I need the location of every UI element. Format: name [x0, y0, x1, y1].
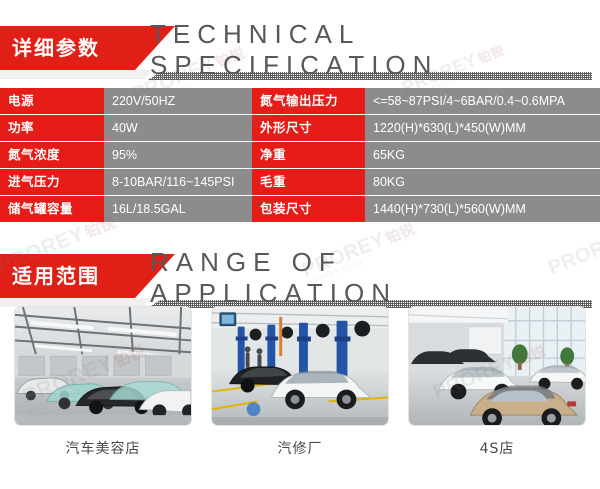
gallery-caption: 汽修厂: [278, 438, 323, 458]
application-gallery: 汽车美容店: [0, 306, 600, 466]
spec-label: 净重: [252, 142, 365, 168]
spec-label: 电源: [0, 88, 104, 114]
section-english-title: RANGE OF APPLICATION: [150, 256, 592, 300]
spec-value: 8-10BAR/116~145PSI: [104, 169, 252, 195]
gallery-item[interactable]: 4S店: [408, 306, 586, 466]
section-ribbon: 适用范围: [0, 254, 175, 298]
ribbon-shadow: [0, 70, 152, 79]
spec-value: 1220(H)*630(L)*450(W)MM: [365, 115, 600, 141]
spec-value: 65KG: [365, 142, 600, 168]
table-row: 进气压力 8-10BAR/116~145PSI 毛重 80KG: [0, 169, 600, 195]
car-dealership-showroom-illustration: [409, 307, 585, 425]
spec-value: 80KG: [365, 169, 600, 195]
table-row: 电源 220V/50HZ 氮气输出压力 <=58~87PSI/4~6BAR/0.…: [0, 88, 600, 114]
spec-label: 毛重: [252, 169, 365, 195]
table-row: 储气罐容量 16L/18.5GAL 包装尺寸 1440(H)*730(L)*56…: [0, 196, 600, 222]
table-row: 氮气浓度 95% 净重 65KG: [0, 142, 600, 168]
section-ribbon-label: 适用范围: [12, 266, 100, 286]
gallery-item[interactable]: 汽修厂: [211, 306, 389, 466]
gallery-caption: 4S店: [480, 438, 515, 458]
spec-value: 16L/18.5GAL: [104, 196, 252, 222]
section-ribbon: 详细参数: [0, 26, 175, 70]
auto-detailing-shop-illustration: [15, 307, 191, 425]
spec-label: 功率: [0, 115, 104, 141]
spec-value: 1440(H)*730(L)*560(W)MM: [365, 196, 600, 222]
spec-table: 电源 220V/50HZ 氮气输出压力 <=58~87PSI/4~6BAR/0.…: [0, 88, 600, 222]
spec-label: 包装尺寸: [252, 196, 365, 222]
section-ribbon-label: 详细参数: [12, 38, 100, 58]
application-photo-auto-detailing-shop[interactable]: [14, 306, 192, 426]
section-english-title: TECHNICAL SPECIFICATION: [150, 28, 592, 72]
application-photo-auto-repair-garage[interactable]: [211, 306, 389, 426]
application-photo-car-dealership-showroom[interactable]: [408, 306, 586, 426]
section-header-range-of-application: 适用范围 RANGE OF APPLICATION: [0, 254, 600, 310]
spec-label: 储气罐容量: [0, 196, 104, 222]
spec-label: 氮气浓度: [0, 142, 104, 168]
spec-value: 95%: [104, 142, 252, 168]
spec-label: 进气压力: [0, 169, 104, 195]
product-detail-page: PROREY铂锐 PROREY AUTO PROREY铂锐 PROREY AUT…: [0, 0, 600, 489]
gallery-caption: 汽车美容店: [66, 438, 141, 458]
spec-value: 40W: [104, 115, 252, 141]
section-header-technical-specification: 详细参数 TECHNICAL SPECIFICATION: [0, 26, 600, 82]
spec-value: <=58~87PSI/4~6BAR/0.4~0.6MPA: [365, 88, 600, 114]
spec-label: 氮气输出压力: [252, 88, 365, 114]
auto-repair-garage-illustration: [212, 307, 388, 425]
spec-label: 外形尺寸: [252, 115, 365, 141]
watermark-brand-cn: 铂锐: [384, 221, 418, 247]
spec-value: 220V/50HZ: [104, 88, 252, 114]
table-row: 功率 40W 外形尺寸 1220(H)*630(L)*450(W)MM: [0, 115, 600, 141]
gallery-item[interactable]: 汽车美容店: [14, 306, 192, 466]
